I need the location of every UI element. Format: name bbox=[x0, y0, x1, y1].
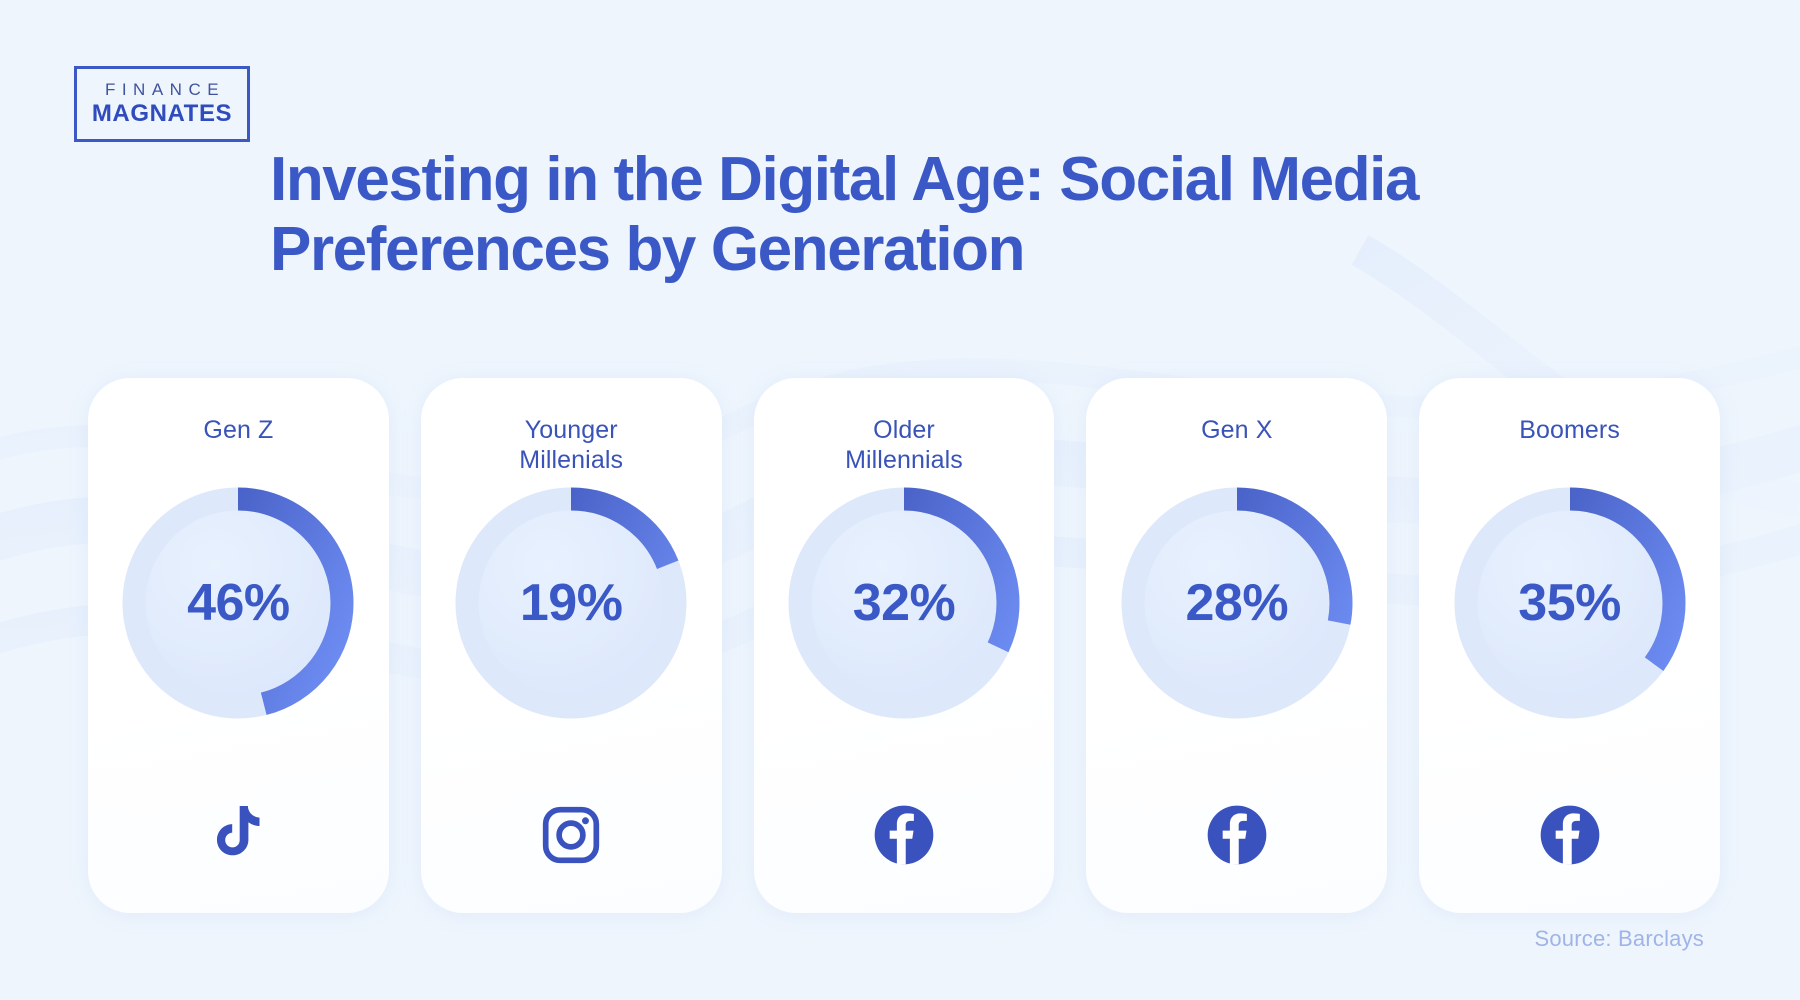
generation-label: Gen X bbox=[1201, 416, 1272, 446]
source-note: Source: Barclays bbox=[1535, 926, 1705, 952]
brand-logo: FINANCE MAGNATES bbox=[74, 66, 250, 142]
generation-label: Older Millennials bbox=[845, 416, 963, 475]
platform-icon[interactable] bbox=[872, 803, 936, 867]
instagram-icon bbox=[540, 804, 602, 866]
page-title: Investing in the Digital Age: Social Med… bbox=[270, 145, 1570, 285]
generation-label: Boomers bbox=[1519, 416, 1620, 446]
facebook-icon bbox=[1205, 803, 1269, 867]
logo-line-magnates: MAGNATES bbox=[92, 100, 232, 128]
generation-card[interactable]: Gen Z46% bbox=[88, 378, 389, 913]
generation-card[interactable]: Younger Millenials19% bbox=[421, 378, 722, 913]
percentage-value: 28% bbox=[1112, 478, 1362, 728]
generation-card[interactable]: Gen X28% bbox=[1086, 378, 1387, 913]
generation-card[interactable]: Boomers35% bbox=[1419, 378, 1720, 913]
donut-gauge: 28% bbox=[1112, 478, 1362, 728]
generation-label: Gen Z bbox=[203, 416, 273, 446]
donut-gauge: 19% bbox=[446, 478, 696, 728]
platform-icon[interactable] bbox=[1205, 803, 1269, 867]
donut-gauge: 32% bbox=[779, 478, 1029, 728]
facebook-icon bbox=[872, 803, 936, 867]
generation-label: Younger Millenials bbox=[519, 416, 623, 475]
facebook-icon bbox=[1538, 803, 1602, 867]
generation-cards: Gen Z46%Younger Millenials19%Older Mille… bbox=[88, 378, 1720, 913]
donut-gauge: 46% bbox=[113, 478, 363, 728]
percentage-value: 35% bbox=[1445, 478, 1695, 728]
percentage-value: 19% bbox=[446, 478, 696, 728]
logo-line-finance: FINANCE bbox=[99, 80, 225, 100]
tiktok-icon bbox=[209, 803, 267, 867]
platform-icon[interactable] bbox=[1538, 803, 1602, 867]
percentage-value: 46% bbox=[113, 478, 363, 728]
platform-icon[interactable] bbox=[206, 803, 270, 867]
percentage-value: 32% bbox=[779, 478, 1029, 728]
platform-icon[interactable] bbox=[539, 803, 603, 867]
donut-gauge: 35% bbox=[1445, 478, 1695, 728]
generation-card[interactable]: Older Millennials32% bbox=[754, 378, 1055, 913]
